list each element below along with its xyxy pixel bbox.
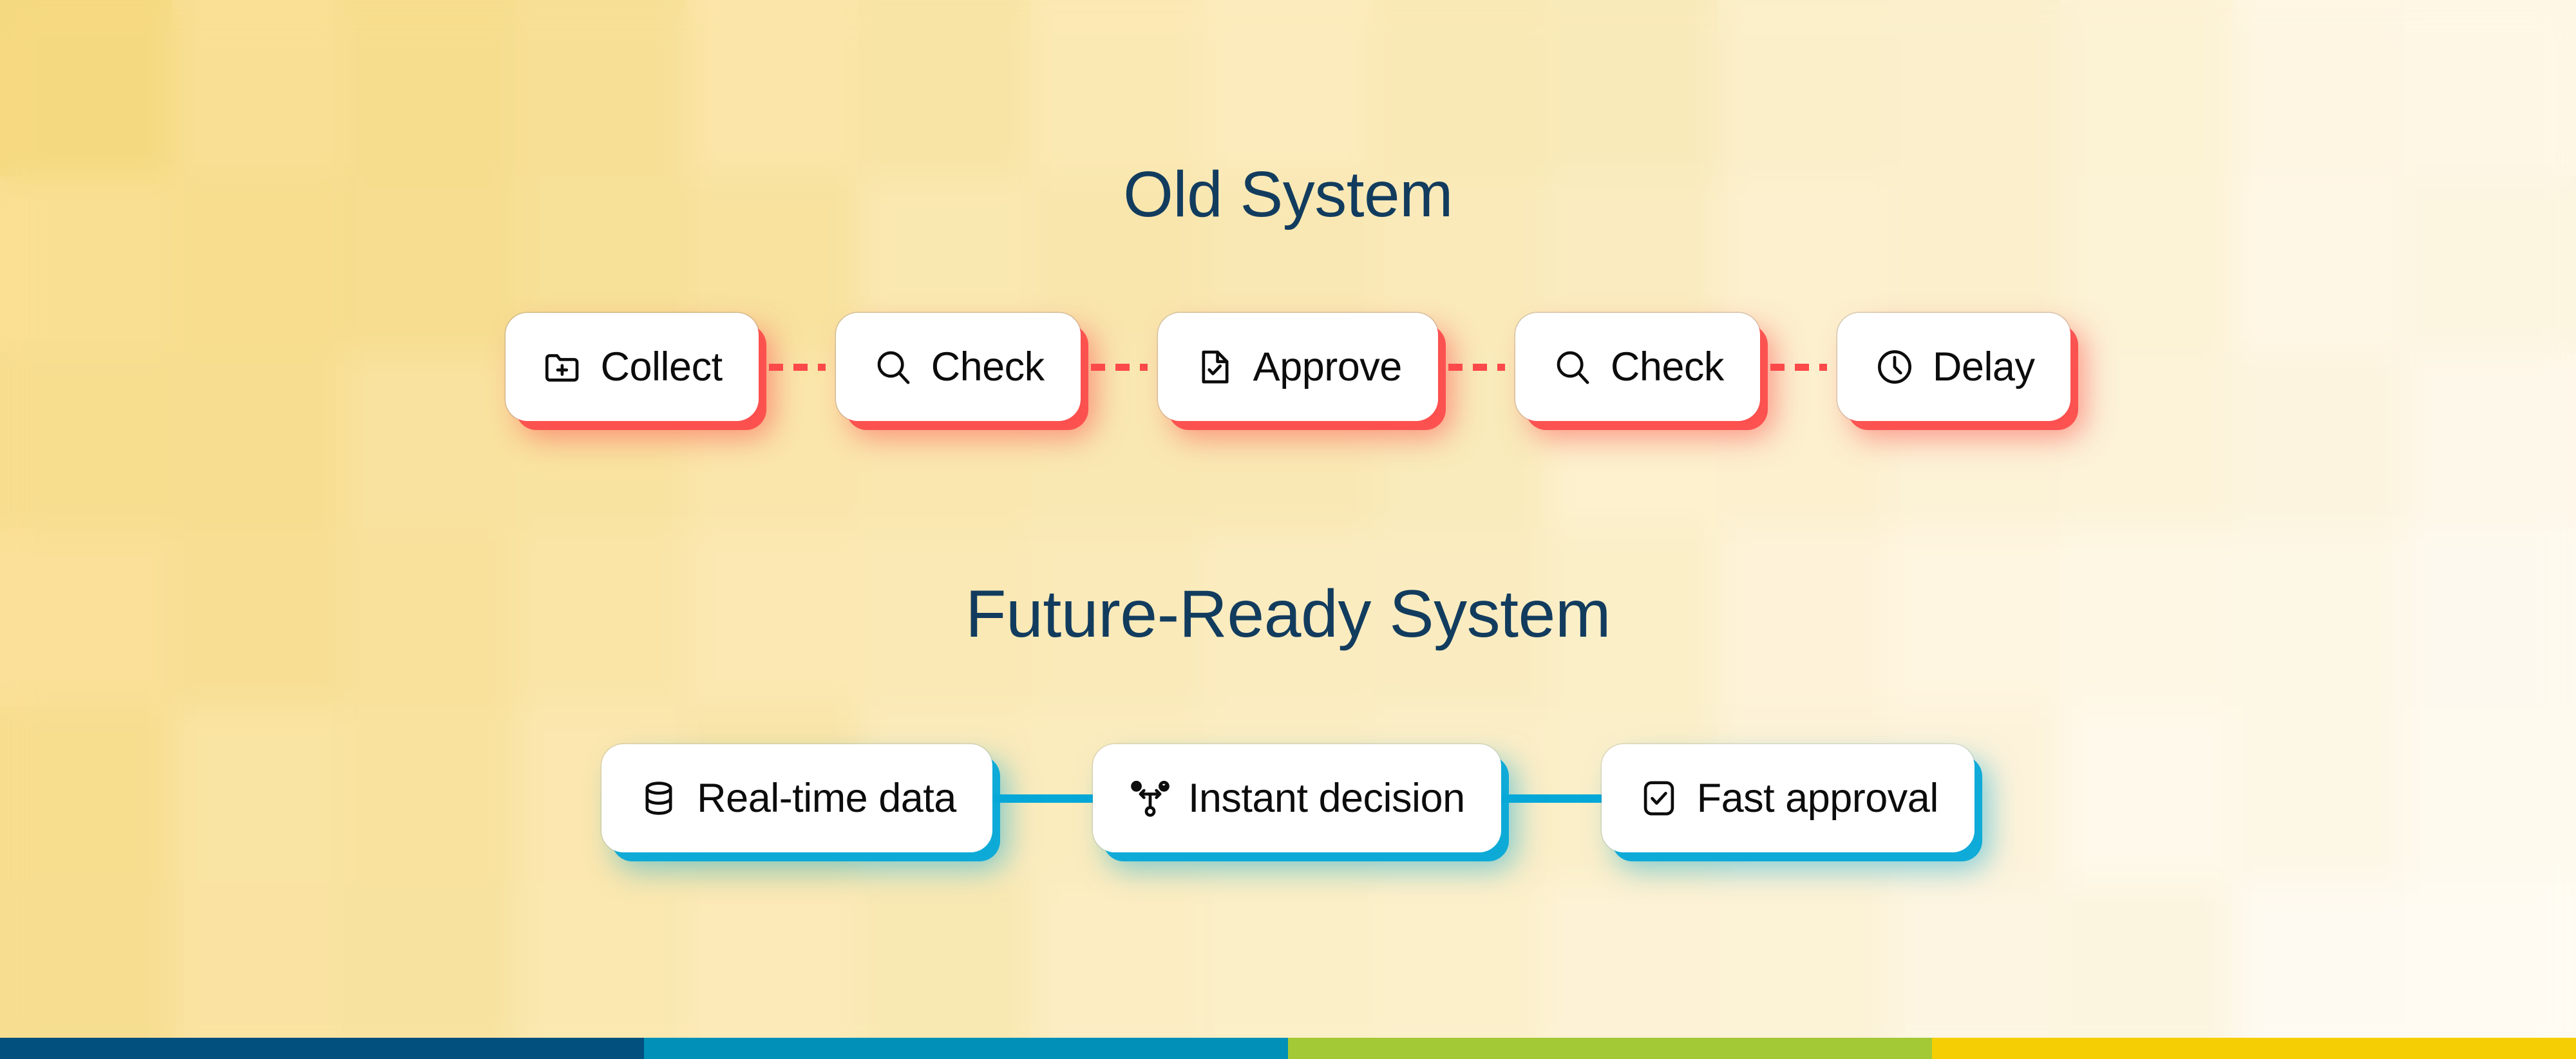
dashed-connector (1091, 364, 1148, 371)
dashed-connector (769, 364, 826, 371)
step-pill-real-time-data[interactable]: Real-time data (601, 744, 992, 852)
database-icon (638, 777, 680, 820)
decision-branch-icon (1129, 777, 1171, 820)
step-label: Approve (1253, 347, 1402, 388)
dashed-connector (1448, 364, 1505, 371)
step-pill-check[interactable]: Check (1515, 313, 1760, 421)
brand-color-bar (0, 1038, 2576, 1059)
step-pill-collect[interactable]: Collect (506, 313, 759, 421)
step-label: Collect (601, 347, 723, 388)
magnifier-icon (1551, 346, 1594, 388)
solid-connector (1501, 794, 1602, 803)
solid-connector (992, 794, 1093, 803)
document-check-icon (1194, 346, 1236, 388)
infographic-content: Old System CollectCheckApproveCheckDelay… (0, 0, 2576, 1059)
step-label: Delay (1933, 347, 2035, 388)
brand-bar-segment-cyan (644, 1038, 1288, 1059)
step-label: Real-time data (697, 778, 956, 819)
checkbox-check-icon (1638, 777, 1680, 820)
future-ready-system-title: Future-Ready System (0, 576, 2576, 653)
brand-bar-segment-yellow (1932, 1038, 2576, 1059)
brand-bar-segment-lime (1288, 1038, 1932, 1059)
step-pill-delay[interactable]: Delay (1837, 313, 2071, 421)
clock-icon (1873, 346, 1916, 388)
step-label: Check (931, 347, 1045, 388)
step-label: Instant decision (1188, 778, 1465, 819)
step-pill-fast-approval[interactable]: Fast approval (1602, 744, 1975, 852)
step-pill-instant-decision[interactable]: Instant decision (1093, 744, 1501, 852)
magnifier-icon (872, 346, 914, 388)
step-label: Fast approval (1697, 778, 1938, 819)
step-pill-approve[interactable]: Approve (1158, 313, 1438, 421)
future-ready-system-flow-row: Real-time dataInstant decisionFast appro… (0, 734, 2576, 863)
old-system-flow-row: CollectCheckApproveCheckDelay (0, 309, 2576, 425)
infographic-canvas: Old System CollectCheckApproveCheckDelay… (0, 0, 2576, 1059)
dashed-connector (1770, 364, 1827, 371)
step-pill-check[interactable]: Check (836, 313, 1081, 421)
folder-plus-icon (542, 346, 584, 388)
old-system-title: Old System (0, 158, 2576, 232)
brand-bar-segment-navy (0, 1038, 644, 1059)
step-label: Check (1611, 347, 1724, 388)
